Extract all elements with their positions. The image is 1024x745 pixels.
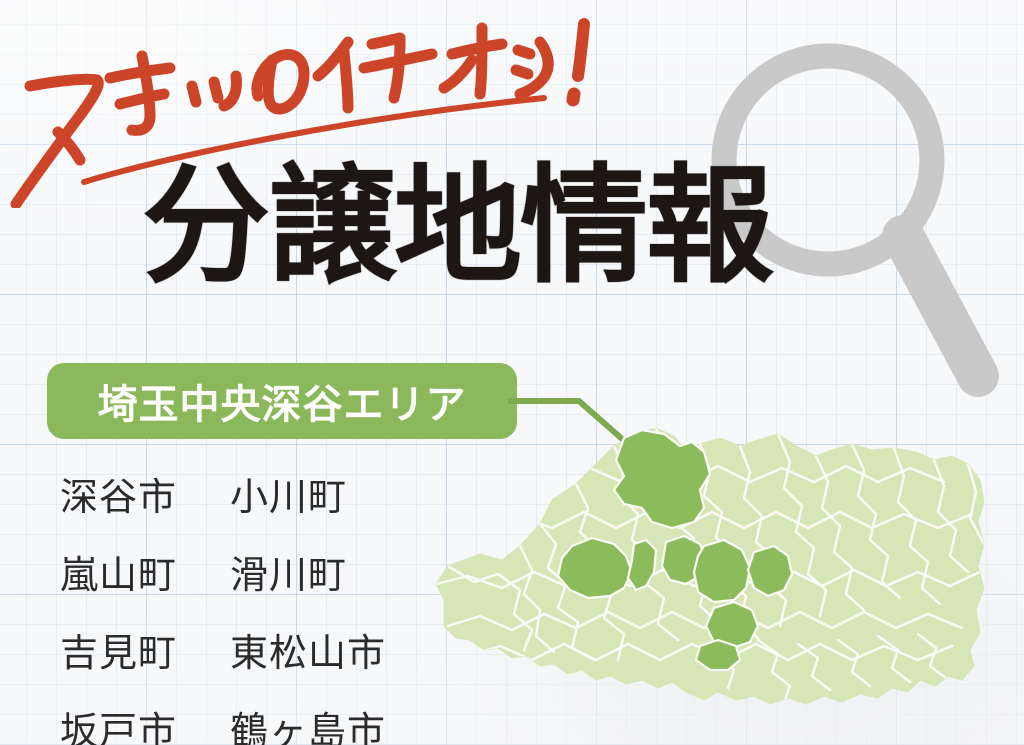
list-item: 小川町 (230, 466, 386, 521)
list-item: 吉見町 (60, 622, 230, 677)
saitama-prefecture-map (428, 404, 1024, 745)
municipality-list: 深谷市 小川町 嵐山町 滑川町 吉見町 東松山市 坂戸市 鶴ヶ島市 (60, 466, 386, 745)
area-badge-label: 埼玉中央深谷エリア (98, 372, 467, 430)
page-title: 分譲地情報 (142, 163, 772, 291)
poster-canvas: 分譲地情報 埼玉中央深谷エリア 深谷市 小川町 嵐山町 滑川町 吉見町 東松山市… (0, 0, 1024, 745)
list-item: 東松山市 (230, 622, 386, 677)
list-item: 嵐山町 (60, 544, 230, 599)
list-item: 滑川町 (230, 544, 386, 599)
list-item: 深谷市 (60, 466, 230, 521)
list-item: 坂戸市 (60, 700, 230, 745)
list-item: 鶴ヶ島市 (230, 700, 386, 745)
